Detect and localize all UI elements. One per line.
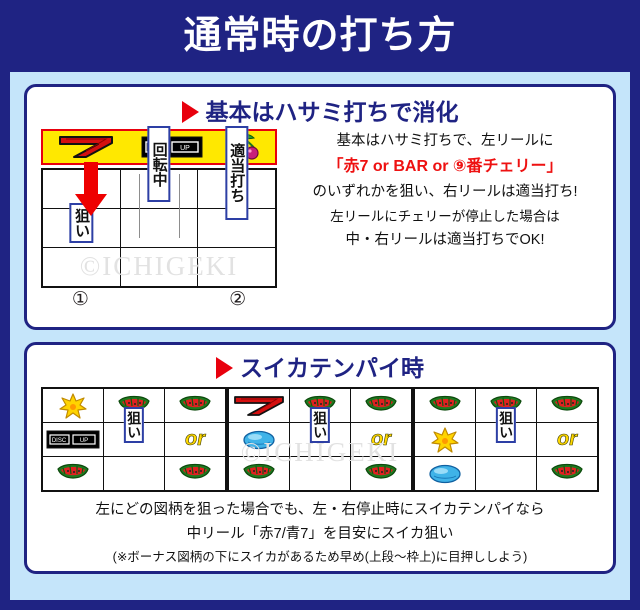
reel-label-right: 適当打ち [225,126,248,220]
pattern-grid-row: DISC UP 狙い or [37,385,603,492]
reel-row [42,457,226,492]
aim-label: 狙い [124,407,144,443]
reel-cell [475,457,536,492]
reel-cell: or [164,423,226,457]
reel-row [414,457,598,492]
strategy-description: 基本はハサミ打ちで、左リールに 「赤7 or BAR or ⑨番チェリー」 のい… [287,129,603,255]
reel-cell: or [350,423,412,457]
section2-title: スイカテンパイ時 [240,357,424,380]
page-header: 通常時の打ち方 [0,0,640,72]
or-label: or [185,428,205,450]
section1-header: 基本はハサミ打ちで消化 [37,95,603,129]
section1-body: DISC UP [37,129,603,311]
star-icon [431,427,459,453]
reel-grid-pattern-1: DISC UP 狙い or [41,387,227,492]
reel-cell [103,457,164,492]
reel-cell: or [536,423,598,457]
reel-number-row: ① ② [41,290,277,311]
reel-grid-pattern-2: 狙い or [227,387,413,492]
watermelon-icon [56,463,90,485]
reel-cell [350,388,412,423]
reel-row [228,457,412,492]
watermelon-icon [178,395,212,417]
reel-cell [120,248,198,288]
reel-cell: 狙い [289,423,350,457]
blue-bell-icon [428,464,462,484]
reel-cell [228,423,289,457]
page-title: 通常時の打ち方 [183,17,456,55]
reel-cell [164,388,226,423]
reel-cell: 狙い [103,423,164,457]
watermelon-icon [550,463,584,485]
bar-disc-up-icon: DISC UP [46,430,100,449]
panel-basic-strategy: 基本はハサミ打ちで消化 [24,84,616,330]
reel-row: 狙い or [228,423,412,457]
reel-cell [414,388,475,423]
reel-number-2 [120,290,199,311]
reel-cell: 狙い [475,423,536,457]
description-line: 基本はハサミ打ちで、左リールに [287,131,603,152]
description-line: 中・右リールは適当打ちでOK! [287,230,603,251]
description-line-highlight: 「赤7 or BAR or ⑨番チェリー」 [287,156,603,179]
watermelon-icon [550,395,584,417]
reel-cell [228,457,289,492]
play-triangle-icon [182,101,199,123]
play-triangle-icon [216,357,233,379]
reel-cell [350,457,412,492]
svg-text:UP: UP [180,145,190,152]
content-stage: 基本はハサミ打ちで消化 [10,72,630,600]
or-label: or [371,428,391,450]
reel-cell [289,457,350,492]
blue-bell-icon [242,430,276,450]
watermelon-icon [242,463,276,485]
reel-cell [414,457,475,492]
reel-diagram-main: DISC UP [37,129,281,311]
or-label: or [557,428,577,450]
aim-label: 狙い [310,407,330,443]
footer-line: 左にどの図柄を狙った場合でも、左・右停止時にスイカテンパイなら [37,500,603,520]
watermelon-icon [178,463,212,485]
reel-cell [42,248,120,288]
aim-label: 狙い [496,407,516,443]
reel-row [42,248,276,288]
section2-header: スイカテンパイ時 [37,351,603,385]
reel-number-1: ① [41,290,120,311]
watermelon-icon [428,395,462,417]
reel-number-3: ② [198,290,277,311]
reel-cell [536,457,598,492]
watermelon-icon [364,395,398,417]
reel-cell: 回転中 [120,169,198,209]
reel-label-center: 回転中 [147,126,170,202]
reel-cell [164,457,226,492]
star-icon [59,393,87,419]
aim-arrow-icon [73,162,109,223]
reel-cell [536,388,598,423]
reel-cell [198,248,276,288]
svg-text:DISC: DISC [52,438,67,444]
panel-watermelon-tenpai: スイカテンパイ時 [24,342,616,574]
reel-cell [228,388,289,423]
section2-footer-text: 左にどの図柄を狙った場合でも、左・右停止時にスイカテンパイなら 中リール「赤7/… [37,492,603,566]
reel-cell [42,388,103,423]
reel-cell [414,423,475,457]
reel-row: 狙い or [414,423,598,457]
reel-cell [42,457,103,492]
section1-title: 基本はハサミ打ちで消化 [206,101,459,124]
red-seven-icon [56,134,116,160]
reel-row: DISC UP 狙い or [42,423,226,457]
footer-line: 中リール「赤7/青7」を目安にスイカ狙い [37,524,603,544]
description-line: 左リールにチェリーが停止した場合は [287,207,603,226]
watermelon-icon [364,463,398,485]
description-line: のいずれかを狙い、右リールは適当打ち! [287,182,603,203]
reel-grid-pattern-3: 狙い or [413,387,599,492]
footer-note: (※ボーナス図柄の下にスイカがあるため早め(上段〜枠上)に目押ししよう) [37,549,603,567]
reel-cell: DISC UP [42,423,103,457]
reel-cell: 適当打ち [198,169,276,209]
reel-cell [120,209,198,248]
svg-text:UP: UP [80,438,88,444]
red-seven-icon [232,394,286,418]
